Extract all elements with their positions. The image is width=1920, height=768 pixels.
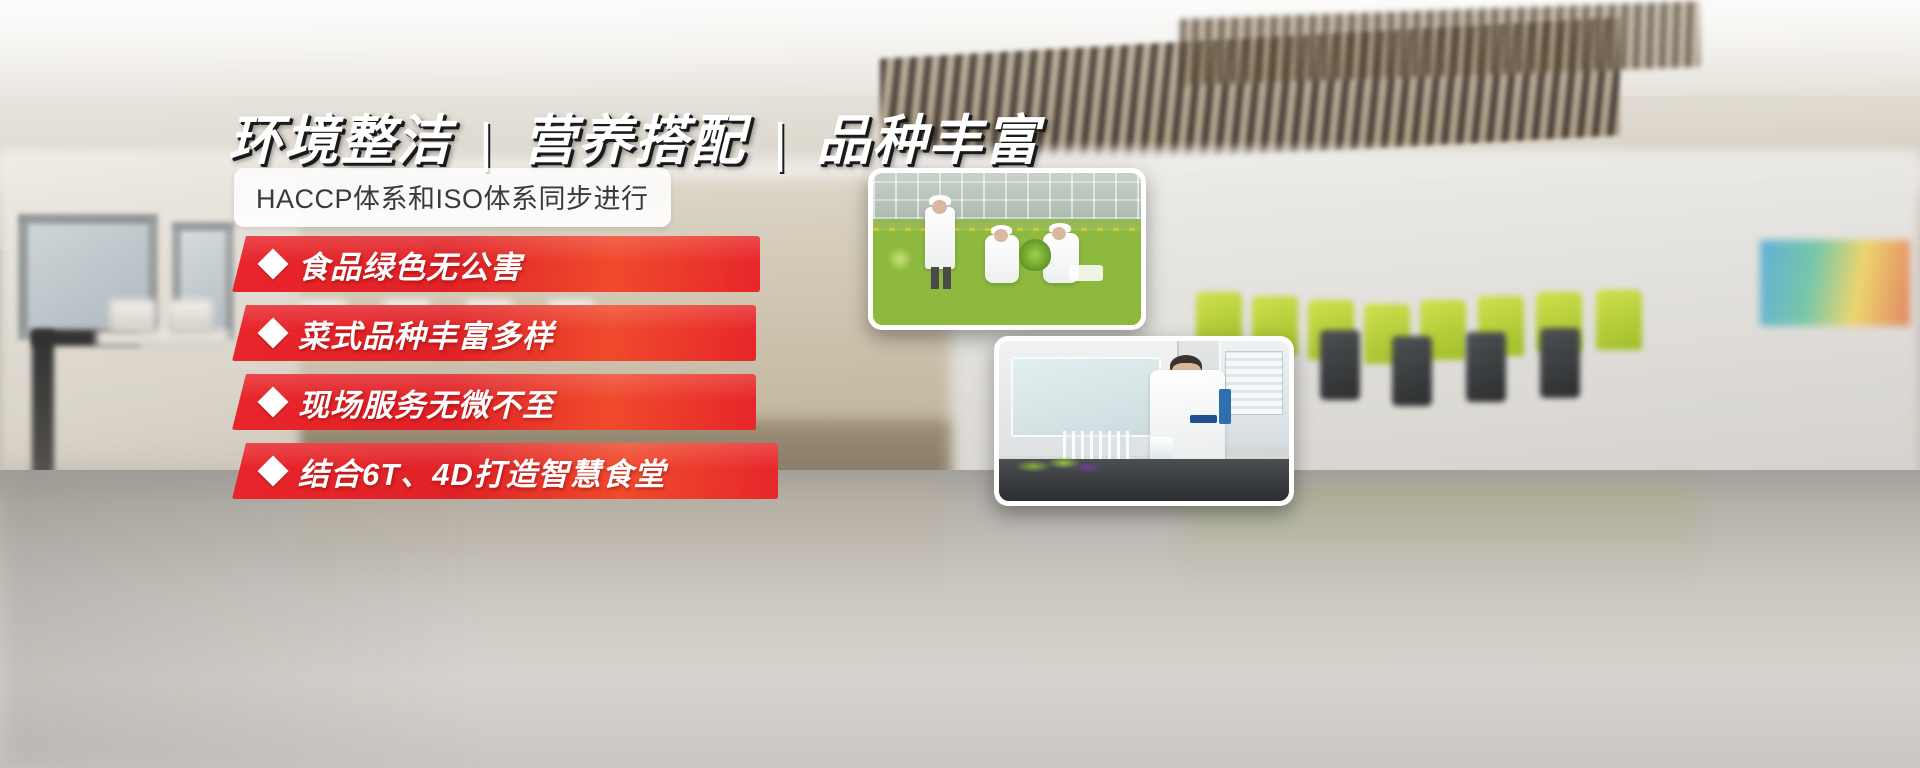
lab-photo-inner	[999, 341, 1289, 501]
headline-segment-2: 营养搭配	[522, 111, 746, 171]
dining-chair	[110, 300, 156, 334]
feature-bar-2[interactable]: 菜式品种丰富多样	[232, 305, 756, 361]
lab-glass-panel	[1011, 357, 1162, 437]
floor-sheen	[0, 470, 1920, 768]
worker-crouching-coat	[985, 235, 1019, 283]
headline-segment-3: 品种丰富	[816, 111, 1040, 171]
wall-display-board	[1760, 240, 1910, 326]
dining-chair	[168, 300, 212, 334]
worker-head	[1052, 227, 1066, 240]
feature-label-4: 结合6T、4D打造智慧食堂	[298, 449, 666, 494]
feature-bar-4[interactable]: 结合6T、4D打造智慧食堂	[232, 443, 778, 499]
diamond-bullet-icon	[257, 455, 288, 486]
headline-segment-1: 环境整洁	[228, 111, 452, 171]
held-lettuce	[1019, 239, 1051, 271]
headline-separator: |	[773, 112, 789, 174]
greenhouse-inspection-photo[interactable]	[868, 168, 1146, 330]
banner-headline: 环境整洁 | 营养搭配 | 品种丰富	[228, 96, 1040, 175]
diamond-bullet-icon	[257, 317, 288, 348]
lab-testing-photo[interactable]	[994, 336, 1294, 506]
headline-separator: |	[479, 112, 495, 174]
dark-chair	[1466, 332, 1506, 402]
feature-bar-1[interactable]: 食品绿色无公害	[232, 236, 760, 292]
worker-head	[994, 229, 1008, 242]
banner-subtitle: HACCP体系和ISO体系同步进行	[234, 168, 671, 227]
dark-chair	[1392, 336, 1432, 406]
greenhouse-photo-inner	[873, 173, 1141, 325]
worker-head	[932, 200, 947, 214]
worker-legs	[943, 267, 951, 289]
promo-banner: 环境整洁 | 营养搭配 | 品种丰富 HACCP体系和ISO体系同步进行 食品绿…	[0, 0, 1920, 768]
vegetable-samples	[1016, 453, 1103, 475]
dark-chair	[1320, 330, 1360, 400]
stanchion-post	[32, 330, 54, 480]
feature-label-3: 现场服务无微不至	[298, 380, 554, 425]
worker-standing-coat	[925, 207, 955, 269]
feature-label-2: 菜式品种丰富多样	[298, 311, 554, 356]
green-chair	[1596, 290, 1642, 350]
diamond-bullet-icon	[257, 386, 288, 417]
id-lanyard	[1190, 415, 1216, 423]
dark-chair	[1540, 328, 1580, 398]
photo-badge	[1069, 265, 1103, 281]
lab-wall-chart	[1225, 351, 1283, 415]
feature-label-1: 食品绿色无公害	[298, 242, 522, 287]
diamond-bullet-icon	[257, 248, 288, 279]
worker-legs	[931, 267, 939, 289]
pipette-icon	[1219, 389, 1231, 424]
greenhouse-roof	[873, 173, 1141, 219]
feature-bar-3[interactable]: 现场服务无微不至	[232, 374, 756, 430]
